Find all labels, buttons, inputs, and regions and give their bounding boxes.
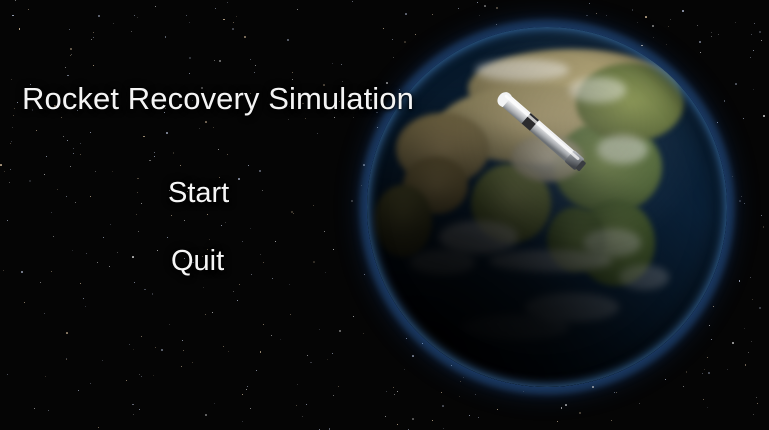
earth-sphere xyxy=(367,27,727,387)
game-main-menu-screen: Rocket Recovery Simulation Start Quit xyxy=(0,0,769,430)
earth-limb xyxy=(367,27,727,387)
earth-globe xyxy=(367,27,727,387)
page-title: Rocket Recovery Simulation xyxy=(22,81,414,117)
quit-button[interactable]: Quit xyxy=(171,247,224,276)
start-button[interactable]: Start xyxy=(168,179,229,208)
